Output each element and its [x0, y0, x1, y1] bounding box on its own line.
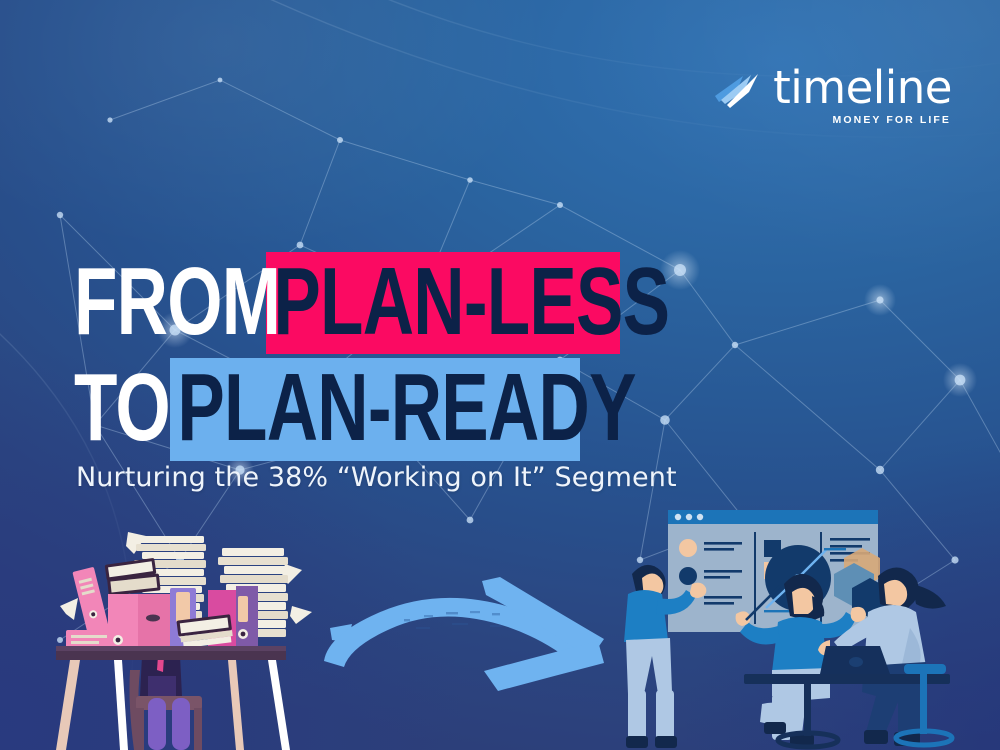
headline-line-2: TO PLAN-READY [74, 358, 794, 460]
headline-word-plan-less: PLAN-LESS [266, 252, 677, 354]
headline-block: FROM PLAN-LESS TO PLAN-READY [74, 252, 794, 461]
headline-word-from: FROM [74, 252, 280, 354]
logo-wordmark: timeline [773, 66, 952, 110]
brush-arrow-illustration [320, 575, 620, 695]
laptop [820, 646, 890, 674]
promo-slide: timeline MONEY FOR LIFE FROM PLAN-LESS T… [0, 0, 1000, 750]
person-presenter-left [624, 565, 706, 748]
overwhelmed-worker-illustration [30, 520, 360, 750]
headline-word-to: TO [74, 358, 170, 460]
headline-word-plan-ready: PLAN-READY [170, 358, 643, 460]
timeline-swoosh-icon [713, 72, 761, 112]
headline-line-1: FROM PLAN-LESS [74, 252, 794, 354]
team-planning-illustration [612, 498, 1000, 750]
headline-highlight-pink: PLAN-LESS [266, 252, 620, 354]
subtitle: Nurturing the 38% “Working on It” Segmen… [76, 462, 677, 493]
headline-highlight-blue: PLAN-READY [170, 358, 580, 460]
brand-logo[interactable]: timeline MONEY FOR LIFE [713, 66, 952, 124]
logo-tagline: MONEY FOR LIFE [833, 114, 951, 126]
